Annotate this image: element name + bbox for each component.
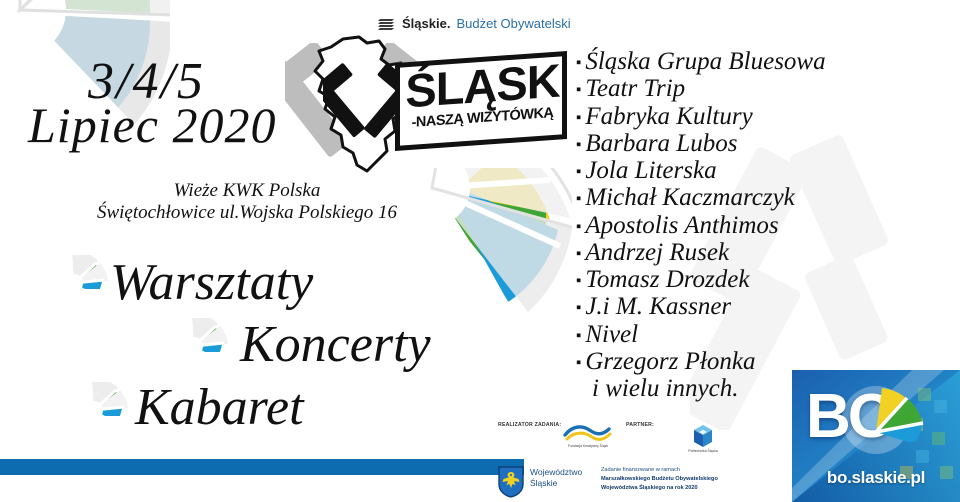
list-item: Fabryka Kultury: [576, 103, 956, 130]
silesian-eagle-shield-icon: [498, 466, 524, 498]
list-item: J.i M. Kassner: [576, 293, 956, 320]
fan-icon-kabaret: [88, 382, 136, 416]
partner-logo: Politechnika Śląska: [673, 423, 733, 453]
voivodeship-line-1: Województwo: [530, 467, 582, 478]
list-item: Jola Literska: [576, 157, 956, 184]
partner-label: PARTNER:: [626, 422, 654, 428]
list-item: Michał Kaczmarczyk: [576, 184, 956, 211]
list-item: Barbara Lubos: [576, 130, 956, 157]
list-item: Tomasz Drozdek: [576, 266, 956, 293]
fan-icon-warsztaty: [68, 255, 116, 289]
bo-logo-block[interactable]: BO bo.slaskie.pl: [792, 370, 960, 502]
banner-brand: Śląskie.: [402, 16, 450, 31]
financing-note: Zadanie finansowane w ramach Marszałkows…: [601, 466, 761, 494]
swoosh-logo-icon: [563, 424, 613, 444]
list-item: Apostolis Anthimos: [576, 212, 956, 239]
program-item-koncerty: Koncerty: [240, 315, 431, 374]
financing-line-3: Województwa Śląskiego na rok 2020: [601, 485, 698, 491]
poster-root: Śląskie. Budżet Obywatelski 3/4/5 Lipiec…: [0, 0, 960, 502]
artists-list: Śląska Grupa Bluesowa Teatr Trip Fabryka…: [576, 48, 956, 402]
fan-icon-koncerty: [188, 318, 236, 352]
program-item-kabaret: Kabaret: [135, 378, 304, 437]
slask-logo: ŚLĄSK -NASZĄ WIZYTÓWKĄ: [285, 35, 570, 175]
slaskie-stripes-icon: [378, 17, 396, 31]
list-item: Nivel: [576, 321, 956, 348]
bottom-blue-bar: [0, 459, 524, 475]
top-banner: Śląskie. Budżet Obywatelski: [378, 16, 571, 31]
financing-line-2: Marszałkowskiego Budżetu Obywatelskiego: [601, 476, 718, 482]
list-item: Teatr Trip: [576, 75, 956, 102]
venue-line-1: Wieże KWK Polska: [72, 180, 422, 202]
event-date-month-year: Lipiec 2020: [28, 96, 276, 154]
venue-line-2: Świętochłowice ul.Wojska Polskiego 16: [72, 202, 422, 224]
bo-fan-icon: [870, 386, 930, 442]
partner-name: Politechnika Śląska: [673, 450, 733, 453]
realizator-name: Fundacja Kreatywny Śląsk: [550, 445, 626, 448]
blue-cube-logo-icon: [690, 423, 716, 449]
program-item-warsztaty: Warsztaty: [110, 253, 313, 312]
footer-sponsors: REALIZATOR ZADANIA: Fundacja Kreatywny Ś…: [498, 420, 758, 502]
realizator-logo: Fundacja Kreatywny Śląsk: [550, 424, 626, 448]
list-item: Śląska Grupa Bluesowa: [576, 48, 956, 75]
slask-wordmark: ŚLĄSK -NASZĄ WIZYTÓWKĄ: [400, 57, 565, 132]
voivodeship-line-2: Śląskie: [530, 478, 582, 489]
venue-address: Wieże KWK Polska Świętochłowice ul.Wojsk…: [72, 180, 422, 224]
bo-url[interactable]: bo.slaskie.pl: [792, 468, 960, 488]
banner-program: Budżet Obywatelski: [456, 16, 570, 31]
voivodeship-name: Województwo Śląskie: [530, 467, 582, 488]
financing-line-1: Zadanie finansowane w ramach: [601, 466, 761, 475]
list-item: Andrzej Rusek: [576, 239, 956, 266]
